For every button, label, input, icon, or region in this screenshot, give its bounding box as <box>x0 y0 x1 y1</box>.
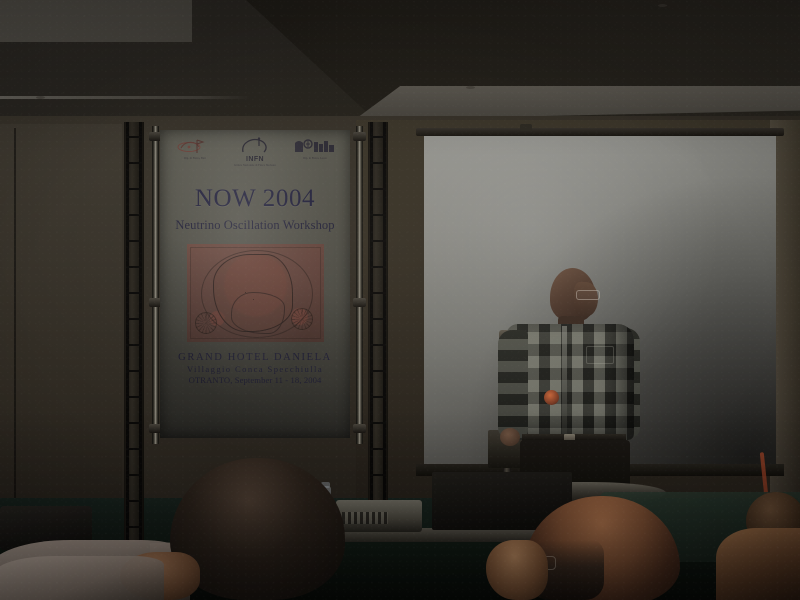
projection-screen-top-bar <box>416 128 784 136</box>
map-compass-star-icon <box>245 284 261 300</box>
right-pole-clamp-bottom <box>353 424 366 433</box>
infn-logo-caption: Istituto Nazionale di Fisica Nucleare <box>228 164 282 168</box>
banner-venue-block: GRAND HOTEL DANIELA Villaggio Conca Spec… <box>160 352 350 385</box>
speaker-left-arm <box>498 330 528 438</box>
conference-room-photo: Dip. di Fisica, Bari INFN Istituto Nazio… <box>0 0 800 600</box>
left-banner-truss <box>124 122 144 542</box>
map-compass-rose-icon <box>291 308 313 330</box>
bari-physics-logo-caption: Dip. di Fisica, Bari <box>168 157 222 161</box>
projector-vents <box>342 512 388 524</box>
lecce-logo-caption: Dip. di Fisica, Lecce <box>288 157 342 161</box>
infn-logo: INFN Istituto Nazionale di Fisica Nuclea… <box>228 136 282 168</box>
venue-name: GRAND HOTEL DANIELA <box>160 352 350 363</box>
right-pole-clamp-top <box>353 132 366 141</box>
speaker-hand <box>500 428 520 446</box>
lecce-university-logo: Dip. di Fisica, Lecce <box>288 136 342 161</box>
ceiling-downlight-icon <box>466 86 475 89</box>
ceiling-light-panel <box>0 0 192 42</box>
right-banner-truss <box>368 122 388 542</box>
audience-shoulder-right <box>716 528 800 600</box>
banner-logo-row: Dip. di Fisica, Bari INFN Istituto Nazio… <box>168 136 342 176</box>
map-compass-rose-icon <box>195 312 217 334</box>
conference-banner: Dip. di Fisica, Bari INFN Istituto Nazio… <box>160 130 350 438</box>
infn-wordmark: INFN <box>228 156 282 163</box>
wall-seam <box>14 128 16 538</box>
shirt-pocket <box>586 346 614 364</box>
audience-light-shirt <box>0 556 164 600</box>
right-banner-pole <box>356 126 363 444</box>
ceiling-downlight-icon <box>36 96 45 99</box>
bari-physics-logo: Dip. di Fisica, Bari <box>168 136 222 161</box>
antique-map-artwork <box>187 244 324 342</box>
left-wall-panel <box>0 124 122 544</box>
banner-subtitle: Neutrino Oscillation Workshop <box>160 218 350 233</box>
left-banner-pole <box>152 126 159 444</box>
speaker-person <box>498 268 648 500</box>
speaker-badge <box>544 390 559 405</box>
shirt-placket <box>562 326 567 438</box>
ceiling-downlight-icon <box>658 4 667 7</box>
screen-roller-knob <box>520 124 532 131</box>
right-pole-clamp-mid <box>353 298 366 307</box>
banner-title: NOW 2004 <box>160 185 350 213</box>
bari-physics-logo-mark <box>168 136 222 156</box>
infn-logo-mark <box>228 136 282 156</box>
lecce-university-crest-icon <box>288 136 342 156</box>
eyeglasses-icon <box>576 290 600 300</box>
audience-hand-center <box>486 540 548 600</box>
venue-city-dates: OTRANTO, September 11 - 18, 2004 <box>160 375 350 385</box>
venue-locality: Villaggio Conca Specchiulla <box>160 364 350 374</box>
